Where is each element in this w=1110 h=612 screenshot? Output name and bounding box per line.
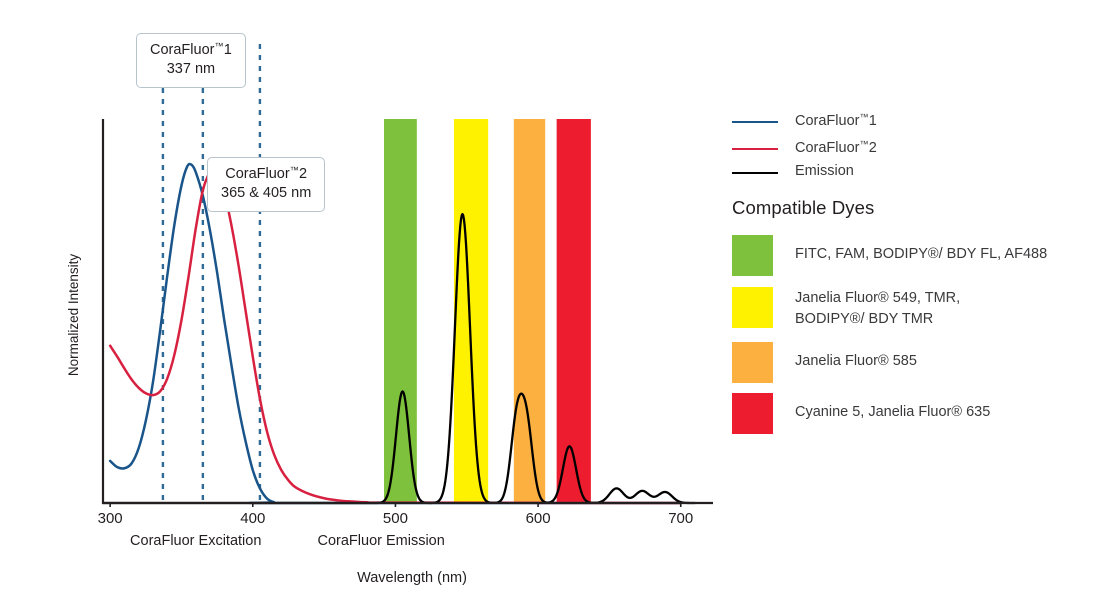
dye-swatch-green (732, 235, 773, 276)
chart-canvas: 300400500600700CoraFluor ExcitationCoraF… (0, 0, 720, 612)
dye-swatch-yellow (732, 287, 773, 328)
legend-item-corafluor2: CoraFluor™2 (732, 139, 877, 156)
legend-line-emission (732, 172, 778, 174)
excitation-group-label: CoraFluor Excitation (130, 533, 261, 549)
corafluor2-name: CoraFluor (225, 166, 289, 182)
dye-label-green: FITC, FAM, BODIPY®/ BDY FL, AF488 (795, 235, 1047, 265)
dye-label-red: Cyanine 5, Janelia Fluor® 635 (795, 393, 990, 423)
legend-label-emission: Emission (795, 163, 854, 179)
corafluor1-callout-line2: 337 nm (150, 60, 232, 79)
x-tick-label-400: 400 (240, 510, 265, 527)
legend-panel: CoraFluor™1 CoraFluor™2 Emission Compati… (728, 0, 1110, 612)
corafluor1-callout-line1: CoraFluor™1 (150, 41, 232, 60)
x-tick-label-600: 600 (526, 510, 551, 527)
green-band (384, 119, 417, 503)
dye-label-yellow: Janelia Fluor® 549, TMR, BODIPY®/ BDY TM… (795, 287, 960, 329)
legend-label-corafluor2: CoraFluor™2 (795, 139, 877, 156)
legend-label-corafluor1: CoraFluor™1 (795, 112, 877, 129)
corafluor2-callout-line2: 365 & 405 nm (221, 184, 311, 203)
trademark-icon: ™ (859, 112, 868, 122)
x-tick-label-700: 700 (668, 510, 693, 527)
corafluor1-name: CoraFluor (150, 42, 214, 58)
dye-item-orange: Janelia Fluor® 585 (732, 342, 917, 383)
spectra-chart: 300400500600700CoraFluor ExcitationCoraF… (0, 0, 720, 612)
legend-line-corafluor2 (732, 148, 778, 150)
dye-swatch-red (732, 393, 773, 434)
compatible-dyes-title: Compatible Dyes (732, 197, 874, 219)
legend-item-emission: Emission (732, 163, 854, 179)
trademark-icon: ™ (214, 41, 223, 51)
dye-label-orange: Janelia Fluor® 585 (795, 342, 917, 372)
corafluor2-index: 2 (299, 166, 307, 182)
corafluor1-index: 1 (224, 42, 232, 58)
trademark-icon: ™ (290, 165, 299, 175)
emission-group-label: CoraFluor Emission (318, 533, 445, 549)
legend-item-corafluor1: CoraFluor™1 (732, 112, 877, 129)
corafluor2-callout-line1: CoraFluor™2 (221, 165, 311, 184)
orange-band (514, 119, 545, 503)
trademark-icon: ™ (859, 139, 868, 149)
corafluor2-callout: CoraFluor™2 365 & 405 nm (207, 157, 325, 212)
dye-swatch-orange (732, 342, 773, 383)
legend-line-corafluor1 (732, 121, 778, 123)
red-band (557, 119, 591, 503)
corafluor1-callout: CoraFluor™1 337 nm (136, 33, 246, 88)
x-tick-label-500: 500 (383, 510, 408, 527)
y-axis-title: Normalized Intensity (66, 254, 81, 377)
dye-item-yellow: Janelia Fluor® 549, TMR, BODIPY®/ BDY TM… (732, 287, 960, 329)
x-axis-title: Wavelength (nm) (357, 570, 467, 586)
x-tick-label-300: 300 (98, 510, 123, 527)
yellow-band (454, 119, 488, 503)
dye-item-green: FITC, FAM, BODIPY®/ BDY FL, AF488 (732, 235, 1047, 276)
dye-item-red: Cyanine 5, Janelia Fluor® 635 (732, 393, 990, 434)
